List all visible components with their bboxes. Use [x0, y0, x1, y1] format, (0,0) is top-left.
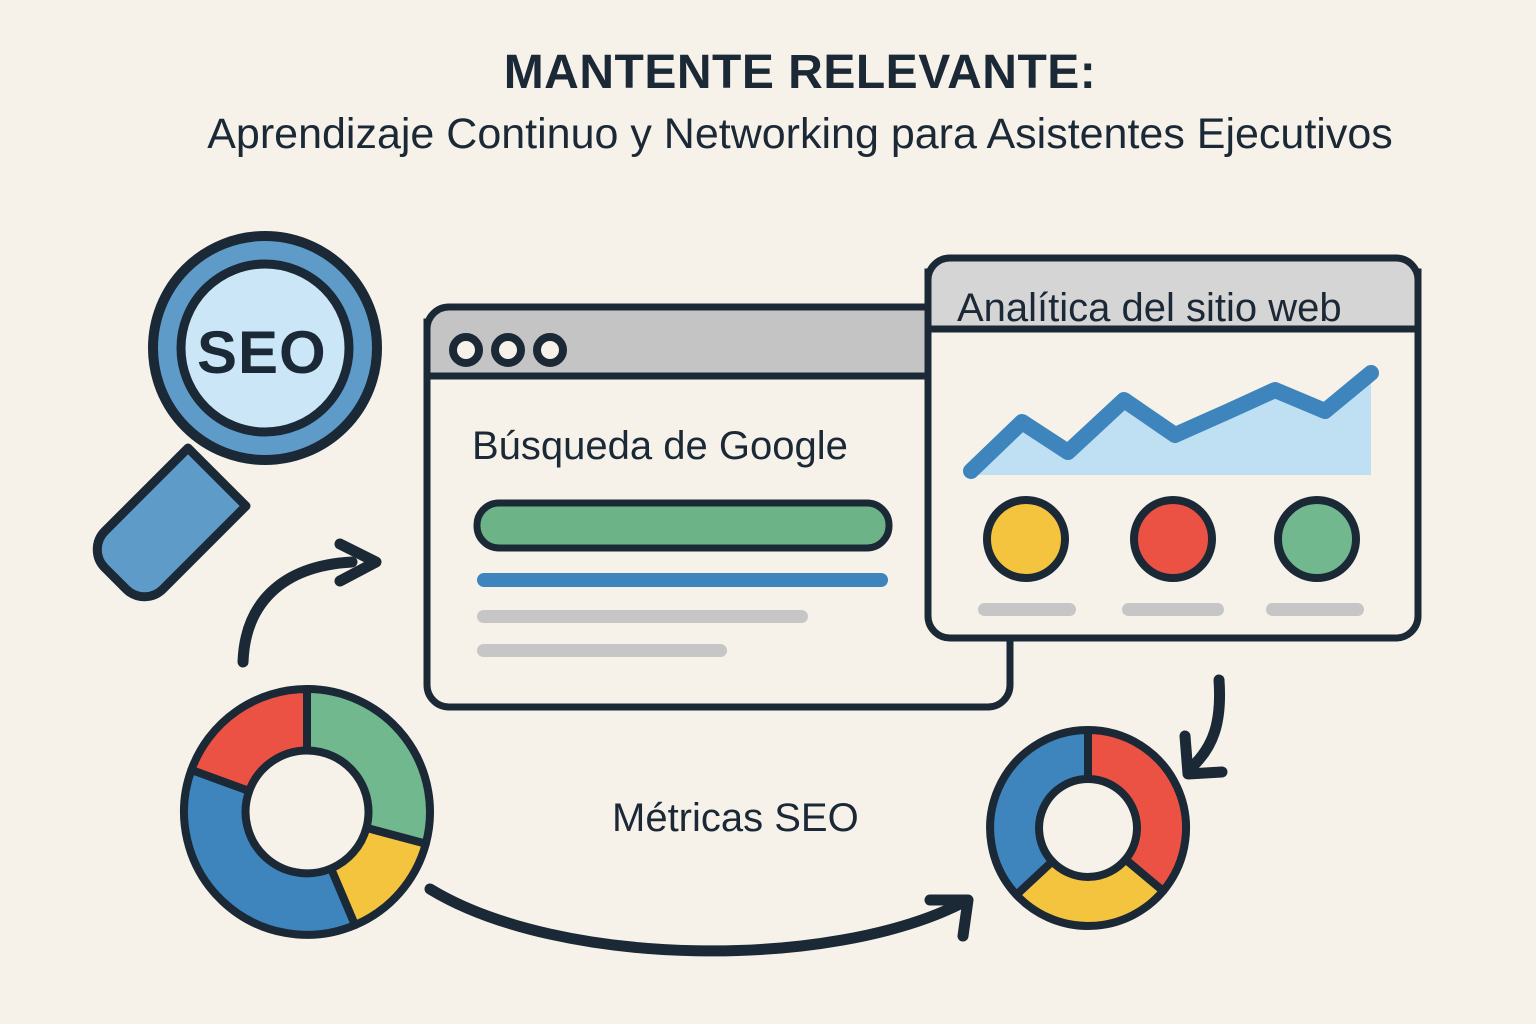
metric-dot-yellow[interactable] — [987, 500, 1065, 578]
browser-window-heading: Búsqueda de Google — [472, 424, 848, 469]
browser-dot-three-icon[interactable] — [537, 337, 563, 363]
metrics-seo-label: Métricas SEO — [612, 796, 859, 841]
donut-left-segment-red[interactable] — [191, 689, 307, 791]
result-text-line-2 — [477, 644, 727, 657]
metric-dot-green[interactable] — [1278, 500, 1356, 578]
page-subtitle: Aprendizaje Continuo y Networking para A… — [135, 108, 1465, 162]
arrow-analytics-to-donut-icon — [1185, 680, 1222, 774]
browser-dot-two-icon[interactable] — [495, 337, 521, 363]
metric-bar-2 — [1122, 603, 1224, 616]
analytics-panel-heading: Analítica del sitio web — [957, 286, 1342, 331]
browser-window[interactable] — [427, 307, 1010, 707]
arrow-donut-to-browser-icon — [243, 544, 376, 662]
result-text-line-1 — [477, 610, 808, 623]
seo-metrics-donut-right[interactable] — [990, 730, 1186, 926]
donut-right-segment-blue[interactable] — [990, 730, 1088, 895]
result-link-line[interactable] — [477, 573, 888, 587]
metric-dot-red[interactable] — [1134, 500, 1212, 578]
magnifier-handle — [97, 448, 246, 597]
arrow-left-donut-to-right-donut-icon — [430, 889, 968, 951]
donut-left-segment-blue[interactable] — [184, 770, 355, 935]
search-bar[interactable] — [477, 503, 889, 548]
magnifier-seo-label: SEO — [197, 318, 327, 387]
donut-left-segment-green[interactable] — [307, 689, 430, 844]
seo-metrics-donut-left[interactable] — [184, 689, 430, 935]
metric-bar-1 — [978, 603, 1076, 616]
page-title: MANTENTE RELEVANTE: — [110, 46, 1490, 100]
title-block: MANTENTE RELEVANTE: Aprendizaje Continuo… — [110, 46, 1490, 162]
poster-canvas: MANTENTE RELEVANTE: Aprendizaje Continuo… — [0, 0, 1536, 1024]
metric-bar-3 — [1266, 603, 1364, 616]
browser-dot-one-icon[interactable] — [453, 337, 479, 363]
